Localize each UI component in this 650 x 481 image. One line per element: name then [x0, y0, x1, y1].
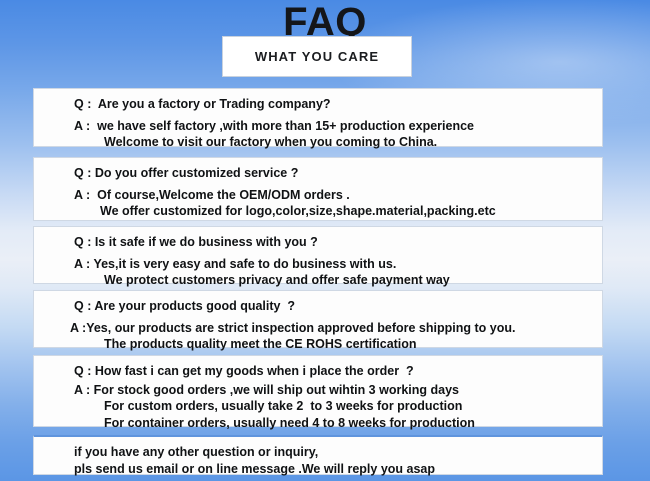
faq-question-line: Q : Are you a factory or Trading company…	[34, 96, 602, 113]
faq-card: Q : How fast i can get my goods when i p…	[33, 355, 603, 427]
faq-answer-line: A : For stock good orders ,we will ship …	[34, 382, 602, 399]
faq-question: Q : Do you offer customized service ?	[34, 165, 602, 182]
faq-question-line: Q : Are your products good quality ?	[34, 298, 602, 315]
faq-answer-line: For custom orders, usually take 2 to 3 w…	[34, 398, 602, 415]
faq-footer-line: if you have any other question or inquir…	[34, 444, 602, 461]
faq-answer-line: A :Yes, our products are strict inspecti…	[34, 320, 602, 337]
faq-question-line: Q : How fast i can get my goods when i p…	[34, 363, 602, 380]
faq-answer-line: A : we have self factory ,with more than…	[34, 118, 602, 135]
faq-answer-line: For container orders, usually need 4 to …	[34, 415, 602, 432]
subtitle-box: WHAT YOU CARE	[222, 36, 412, 77]
faq-card: Q : Is it safe if we do business with yo…	[33, 226, 603, 284]
subtitle-text: WHAT YOU CARE	[255, 49, 379, 64]
faq-question: Q : Are your products good quality ?	[34, 298, 602, 315]
faq-question: Q : Are you a factory or Trading company…	[34, 96, 602, 113]
faq-question: Q : How fast i can get my goods when i p…	[34, 363, 602, 380]
faq-banner: FAQ WHAT YOU CARE Q : Are you a factory …	[0, 0, 650, 481]
faq-answer: A : Of course,Welcome the OEM/ODM orders…	[34, 187, 602, 220]
faq-answer-line: A : Yes,it is very easy and safe to do b…	[34, 256, 602, 273]
faq-card: Q : Are your products good quality ? A :…	[33, 290, 603, 348]
faq-footer-card: if you have any other question or inquir…	[33, 435, 603, 475]
faq-answer-line: We protect customers privacy and offer s…	[34, 272, 602, 289]
faq-question: Q : Is it safe if we do business with yo…	[34, 234, 602, 251]
faq-answer-line: The products quality meet the CE ROHS ce…	[34, 336, 602, 353]
faq-answer-line: Welcome to visit our factory when you co…	[34, 134, 602, 151]
faq-footer-line: pls send us email or on line message .We…	[34, 461, 602, 478]
faq-answer-line: We offer customized for logo,color,size,…	[34, 203, 602, 220]
faq-answer: A : Yes,it is very easy and safe to do b…	[34, 256, 602, 289]
faq-answer: A : For stock good orders ,we will ship …	[34, 382, 602, 432]
faq-answer-line: A : Of course,Welcome the OEM/ODM orders…	[34, 187, 602, 204]
faq-answer: A : we have self factory ,with more than…	[34, 118, 602, 151]
faq-card: Q : Are you a factory or Trading company…	[33, 88, 603, 147]
faq-question-line: Q : Is it safe if we do business with yo…	[34, 234, 602, 251]
faq-answer: A :Yes, our products are strict inspecti…	[34, 320, 602, 353]
faq-footer-text: if you have any other question or inquir…	[34, 444, 602, 477]
faq-card: Q : Do you offer customized service ? A …	[33, 157, 603, 221]
faq-question-line: Q : Do you offer customized service ?	[34, 165, 602, 182]
